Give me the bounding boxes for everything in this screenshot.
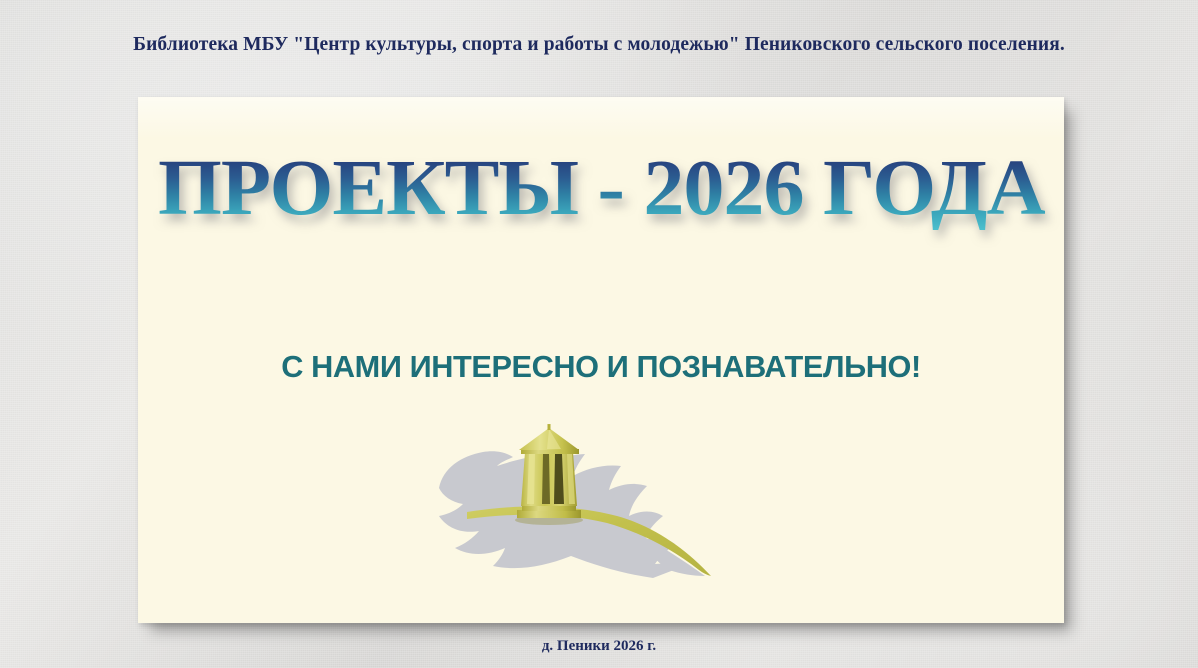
slide-card: ПРОЕКТЫ - 2026 ГОДА С НАМИ ИНТЕРЕСНО И П… — [138, 97, 1064, 623]
organization-title: Библиотека МБУ "Центр культуры, спорта и… — [133, 34, 1065, 56]
lantern — [515, 424, 583, 525]
location-date-caption: д. Пеники 2026 г. — [542, 638, 656, 655]
page-subtitle: С НАМИ ИНТЕРЕСНО И ПОЗНАВАТЕЛЬНО! — [281, 349, 921, 385]
header-bar: Библиотека МБУ "Центр культуры, спорта и… — [0, 34, 1198, 56]
lantern-finial-spike — [548, 424, 551, 430]
slide-root: Библиотека МБУ "Центр культуры, спорта и… — [0, 0, 1198, 668]
footer-bar: д. Пеники 2026 г. — [0, 637, 1198, 655]
subtitle-block: С НАМИ ИНТЕРЕСНО И ПОЗНАВАТЕЛЬНО! — [138, 349, 1064, 385]
lantern-base — [517, 510, 581, 518]
lantern-window-left — [542, 454, 550, 504]
page-title: ПРОЕКТЫ - 2026 ГОДА — [158, 149, 1045, 230]
title-block: ПРОЕКТЫ - 2026 ГОДА — [138, 149, 1064, 230]
quill-with-lantern-icon — [421, 424, 781, 589]
quill-lantern-svg — [421, 424, 781, 589]
